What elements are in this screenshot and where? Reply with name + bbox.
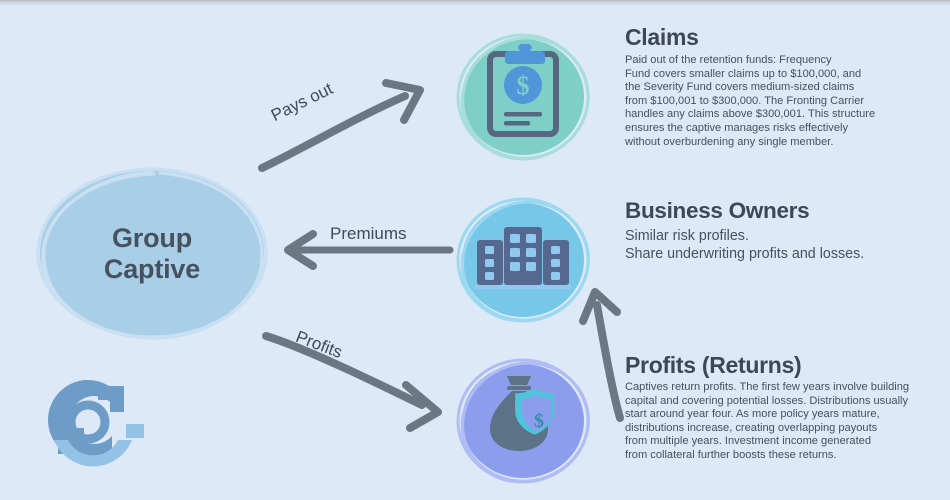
claims-body: Paid out of the retention funds: Frequen… — [625, 54, 937, 149]
business-owners-section: Business Owners Similar risk profiles. S… — [625, 198, 937, 263]
brand-logo — [28, 362, 146, 487]
brand-logo-mark — [48, 380, 144, 466]
profits-body: Captives return profits. The first few y… — [625, 381, 940, 463]
arrow-profits — [266, 336, 438, 428]
business-owners-heading: Business Owners — [625, 198, 937, 224]
svg-text:$: $ — [534, 410, 544, 432]
group-captive-line1: Group — [112, 223, 192, 254]
group-captive-line2: Captive — [104, 254, 200, 285]
arrow-label-premiums: Premiums — [330, 224, 407, 244]
business-owners-body: Similar risk profiles. Share underwritin… — [625, 227, 937, 263]
profits-heading: Profits (Returns) — [625, 352, 940, 378]
business-owners-node[interactable] — [448, 187, 598, 337]
infographic-canvas: Group Captive $ — [0, 0, 950, 500]
claims-node[interactable]: $ — [448, 22, 598, 172]
claims-section: Claims Paid out of the retention funds: … — [625, 24, 937, 149]
group-captive-label: Group Captive — [33, 166, 271, 341]
profits-section: Profits (Returns) Captives return profit… — [625, 352, 940, 463]
profits-node[interactable]: $ — [450, 348, 600, 498]
group-captive-node[interactable]: Group Captive — [33, 166, 271, 341]
arrow-pays-out — [262, 83, 420, 168]
svg-text:$: $ — [517, 71, 530, 100]
claims-heading: Claims — [625, 24, 937, 50]
